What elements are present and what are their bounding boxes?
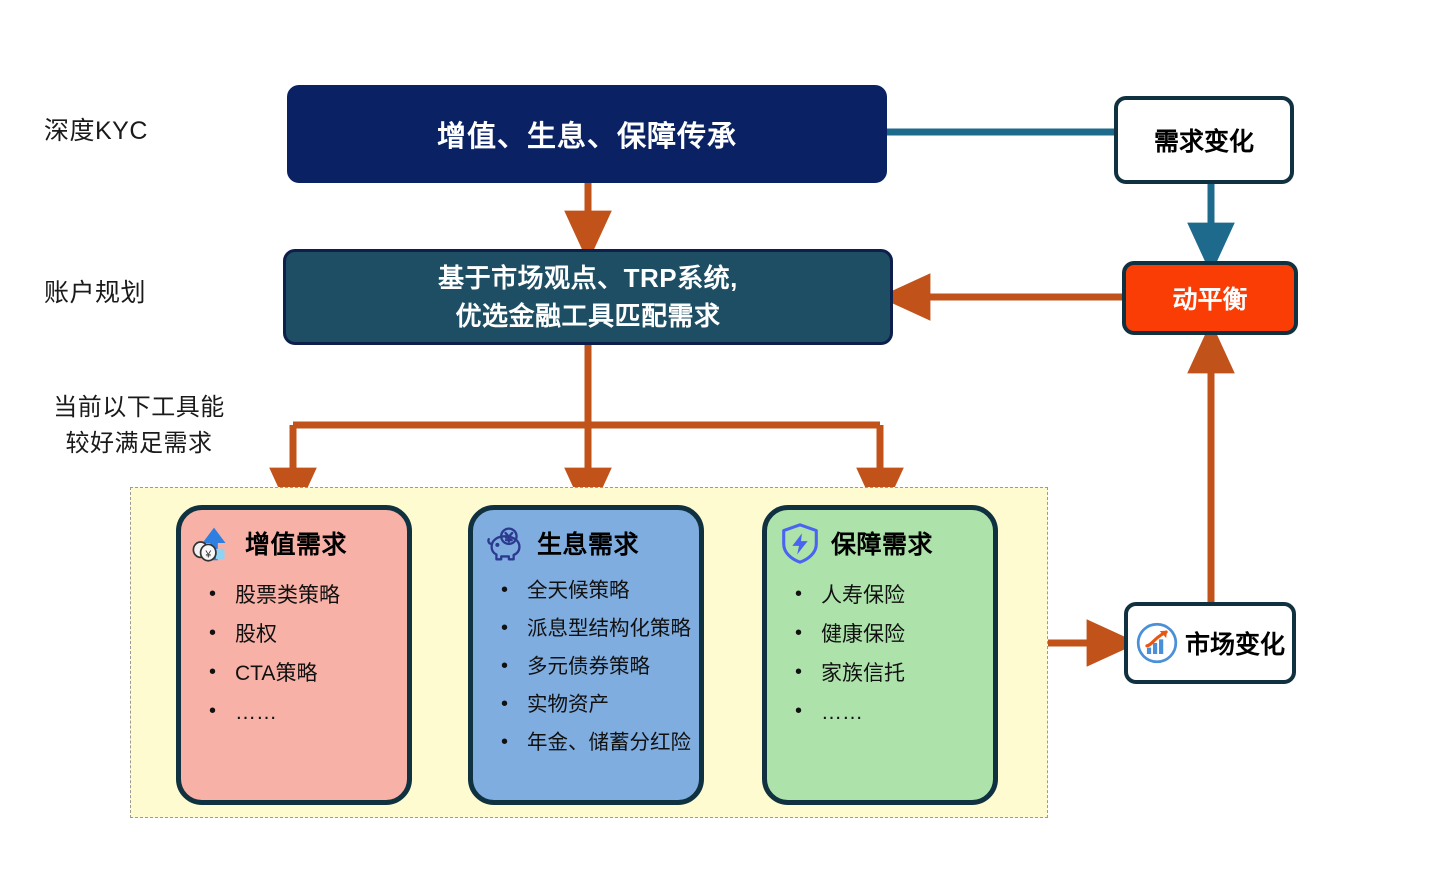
card-income-title: 生息需求	[537, 525, 639, 561]
list-item: ……	[795, 693, 993, 732]
box-top-text: 增值、生息、保障传承	[437, 113, 737, 155]
box-demand-change[interactable]: 需求变化	[1114, 96, 1294, 184]
box-market-change[interactable]: 市场变化	[1124, 602, 1296, 684]
piggy-bank-icon	[483, 520, 529, 566]
box-dynamic-balance[interactable]: 动平衡	[1122, 261, 1298, 335]
list-item: 股票类策略	[209, 576, 407, 615]
chart-growth-icon	[1135, 621, 1179, 665]
list-item: 多元债券策略	[501, 648, 699, 686]
list-item: 人寿保险	[795, 576, 993, 615]
box-demand-change-label: 需求变化	[1154, 122, 1254, 158]
card-growth-header: ¥ 增值需求	[181, 510, 407, 566]
card-protection-header: 保障需求	[767, 510, 993, 566]
box-mid-line1: 基于市场观点、TRP系统,	[438, 259, 738, 297]
list-item: 年金、储蓄分红险	[501, 724, 699, 762]
list-item: 家族信托	[795, 654, 993, 693]
shield-bolt-icon	[777, 520, 823, 566]
card-protection-need[interactable]: 保障需求 人寿保险 健康保险 家族信托 ……	[762, 505, 998, 805]
card-income-need[interactable]: 生息需求 全天候策略 派息型结构化策略 多元债券策略 实物资产 年金、储蓄分红险	[468, 505, 704, 805]
card-protection-title: 保障需求	[831, 525, 933, 561]
card-growth-title: 增值需求	[245, 525, 347, 561]
box-dynamic-balance-label: 动平衡	[1172, 280, 1247, 316]
list-item: 健康保险	[795, 615, 993, 654]
list-item: 派息型结构化策略	[501, 610, 699, 648]
diagram-canvas: 深度KYC 账户规划 当前以下工具能较好满足需求 增值、生息、保障传承 基于市场…	[0, 0, 1440, 889]
stage-label-tools: 当前以下工具能较好满足需求	[44, 390, 234, 462]
box-market-change-label: 市场变化	[1185, 625, 1285, 661]
card-growth-list: 股票类策略 股权 CTA策略 ……	[181, 566, 407, 732]
card-growth-need[interactable]: ¥ 增值需求 股票类策略 股权 CTA策略 ……	[176, 505, 412, 805]
box-mid-line2: 优选金融工具匹配需求	[438, 297, 738, 335]
list-item: 全天候策略	[501, 572, 699, 610]
svg-text:¥: ¥	[204, 548, 211, 560]
card-income-list: 全天候策略 派息型结构化策略 多元债券策略 实物资产 年金、储蓄分红险	[473, 566, 699, 762]
coins-up-arrow-icon: ¥	[191, 520, 237, 566]
box-market-view-trp[interactable]: 基于市场观点、TRP系统, 优选金融工具匹配需求	[283, 249, 893, 345]
card-protection-list: 人寿保险 健康保险 家族信托 ……	[767, 566, 993, 732]
stage-label-account-planning: 账户规划	[44, 276, 254, 310]
list-item: CTA策略	[209, 654, 407, 693]
list-item: 股权	[209, 615, 407, 654]
list-item: ……	[209, 693, 407, 732]
box-value-growth-inheritance[interactable]: 增值、生息、保障传承	[287, 85, 887, 183]
list-item: 实物资产	[501, 686, 699, 724]
stage-label-kyc: 深度KYC	[44, 114, 254, 148]
card-income-header: 生息需求	[473, 510, 699, 566]
